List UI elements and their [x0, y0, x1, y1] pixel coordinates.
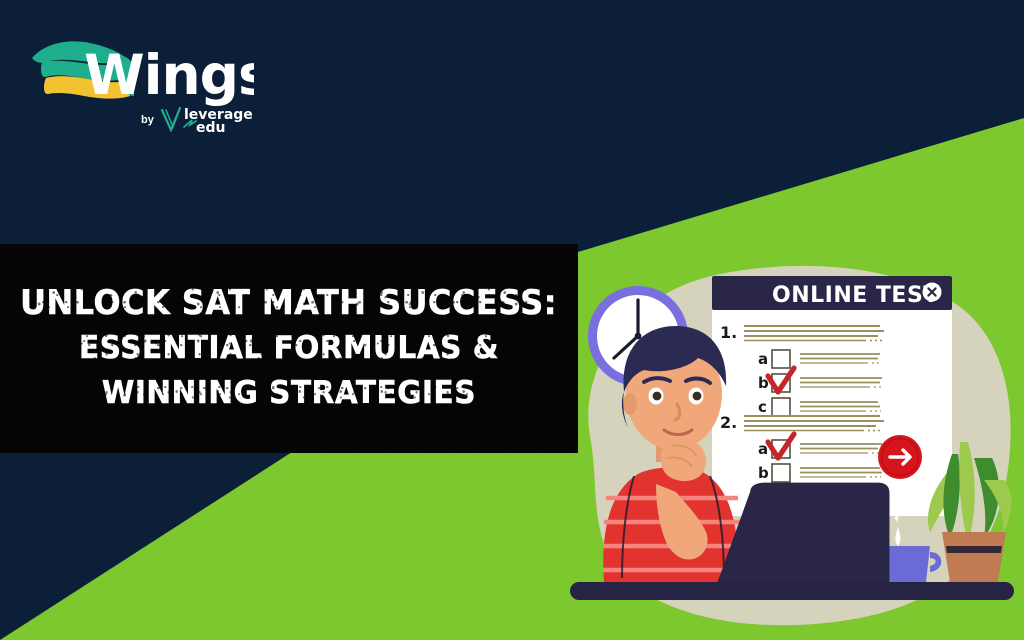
banner-stage: Wings by leverage edu UNLOCK SAT MATH SU… [0, 0, 1024, 640]
q2-option-b-letter: b [758, 464, 769, 482]
logo-brand-text: Wings [84, 43, 254, 107]
arrow-right-icon[interactable] [878, 435, 922, 479]
question-2-number: 2. [720, 413, 737, 432]
close-circle-icon[interactable] [923, 283, 942, 302]
title-band: UNLOCK SAT MATH SUCCESS: ESSENTIAL FORMU… [0, 244, 578, 453]
online-test-card[interactable]: ONLINE TEST 1. a [712, 276, 952, 516]
q1-option-c-letter: c [758, 398, 767, 416]
q1-option-c-checkbox[interactable] [772, 398, 790, 416]
illustration-svg: ONLINE TEST 1. a [560, 246, 1024, 640]
logo-by-label: by [141, 114, 155, 126]
q1-option-a-letter: a [758, 350, 768, 368]
logo-subbrand-line2: edu [196, 120, 225, 132]
check-swoosh-icon [162, 108, 180, 130]
q1-option-a-checkbox[interactable] [772, 350, 790, 368]
online-test-illustration: ONLINE TEST 1. a [560, 246, 1024, 640]
question-1-number: 1. [720, 323, 737, 342]
page-title-line-1: UNLOCK SAT MATH SUCCESS: [21, 286, 558, 320]
desk-surface [570, 582, 1014, 600]
q2-option-b-checkbox[interactable] [772, 464, 790, 482]
wings-logo-svg: Wings by leverage edu [24, 22, 254, 132]
test-card-title: ONLINE TEST [772, 283, 939, 308]
page-title-line-2: ESSENTIAL FORMULAS & [79, 333, 499, 365]
page-title-line-3: WINNING STRATEGIES [102, 378, 476, 410]
wings-logo[interactable]: Wings by leverage edu [24, 22, 254, 132]
